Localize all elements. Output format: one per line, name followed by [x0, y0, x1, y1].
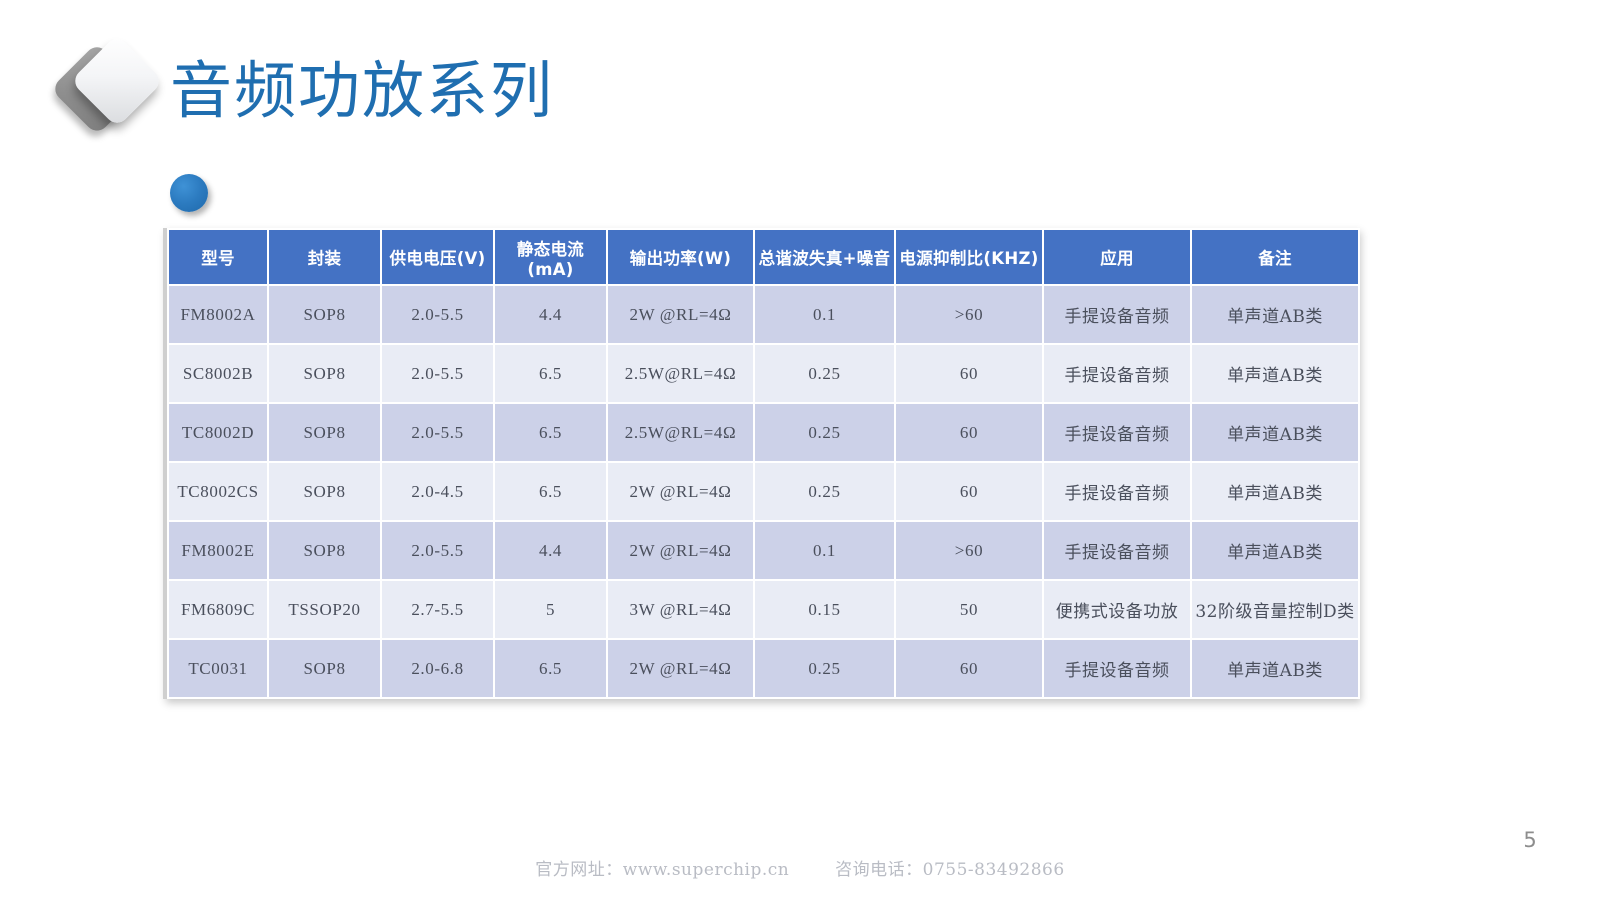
cell-model: TC0031 [168, 639, 268, 698]
cell-quiescent-current: 6.5 [494, 462, 607, 521]
table-row: TC8002D SOP8 2.0-5.5 6.5 2.5W@RL=4Ω 0.25… [168, 403, 1359, 462]
cell-model: SC8002B [168, 344, 268, 403]
footer-phone: 咨询电话：0755-83492866 [835, 855, 1065, 880]
cell-output-power: 2W @RL=4Ω [607, 285, 754, 344]
cell-remark: 单声道AB类 [1191, 285, 1359, 344]
cell-quiescent-current: 6.5 [494, 639, 607, 698]
cell-application: 手提设备音频 [1043, 639, 1191, 698]
column-header-supply-voltage: 供电电压(V) [381, 229, 494, 285]
cell-thd-n: 0.25 [754, 462, 895, 521]
cell-application: 手提设备音频 [1043, 403, 1191, 462]
column-header-package: 封装 [268, 229, 381, 285]
cell-output-power: 2W @RL=4Ω [607, 639, 754, 698]
cell-package: SOP8 [268, 521, 381, 580]
cell-supply-voltage: 2.7-5.5 [381, 580, 494, 639]
cell-supply-voltage: 2.0-4.5 [381, 462, 494, 521]
cell-package: TSSOP20 [268, 580, 381, 639]
cell-remark: 单声道AB类 [1191, 344, 1359, 403]
cell-model: FM6809C [168, 580, 268, 639]
column-header-quiescent-current: 静态电流(mA) [494, 229, 607, 285]
cell-output-power: 2.5W@RL=4Ω [607, 344, 754, 403]
cell-thd-n: 0.15 [754, 580, 895, 639]
cell-package: SOP8 [268, 285, 381, 344]
table-row: FM8002A SOP8 2.0-5.5 4.4 2W @RL=4Ω 0.1 >… [168, 285, 1359, 344]
cell-application: 便携式设备功放 [1043, 580, 1191, 639]
cell-psrr: >60 [895, 285, 1043, 344]
cell-package: SOP8 [268, 344, 381, 403]
cell-thd-n: 0.1 [754, 285, 895, 344]
cell-output-power: 2W @RL=4Ω [607, 521, 754, 580]
column-header-psrr: 电源抑制比(KHZ) [895, 229, 1043, 285]
cell-output-power: 3W @RL=4Ω [607, 580, 754, 639]
cell-thd-n: 0.1 [754, 521, 895, 580]
cell-quiescent-current: 6.5 [494, 344, 607, 403]
cell-model: TC8002D [168, 403, 268, 462]
column-header-application: 应用 [1043, 229, 1191, 285]
cell-model: FM8002A [168, 285, 268, 344]
column-header-model: 型号 [168, 229, 268, 285]
cell-supply-voltage: 2.0-5.5 [381, 285, 494, 344]
cell-quiescent-current: 4.4 [494, 285, 607, 344]
cell-supply-voltage: 2.0-5.5 [381, 403, 494, 462]
slide-canvas: 音频功放系列 型号 封装 供电电压(V) 静态电流(mA) 输出功率(W) 总谐… [0, 0, 1600, 900]
cell-model: FM8002E [168, 521, 268, 580]
cell-application: 手提设备音频 [1043, 462, 1191, 521]
cell-thd-n: 0.25 [754, 639, 895, 698]
page-number: 5 [1510, 828, 1550, 852]
cell-psrr: 50 [895, 580, 1043, 639]
cell-quiescent-current: 4.4 [494, 521, 607, 580]
cell-psrr: >60 [895, 521, 1043, 580]
cell-psrr: 60 [895, 344, 1043, 403]
cell-package: SOP8 [268, 462, 381, 521]
title-area: 音频功放系列 [58, 28, 1058, 148]
cell-package: SOP8 [268, 403, 381, 462]
column-header-output-power: 输出功率(W) [607, 229, 754, 285]
cell-application: 手提设备音频 [1043, 521, 1191, 580]
cell-supply-voltage: 2.0-6.8 [381, 639, 494, 698]
spec-table-container: 型号 封装 供电电压(V) 静态电流(mA) 输出功率(W) 总谐波失真+噪音 … [163, 228, 1358, 699]
table-header: 型号 封装 供电电压(V) 静态电流(mA) 输出功率(W) 总谐波失真+噪音 … [168, 229, 1359, 285]
column-header-thd-n: 总谐波失真+噪音 [754, 229, 895, 285]
table-header-row: 型号 封装 供电电压(V) 静态电流(mA) 输出功率(W) 总谐波失真+噪音 … [168, 229, 1359, 285]
diamond-logo-icon [58, 36, 168, 146]
cell-supply-voltage: 2.0-5.5 [381, 521, 494, 580]
footer-website: 官方网址：www.superchip.cn [535, 855, 789, 880]
cell-remark: 单声道AB类 [1191, 521, 1359, 580]
table-row: TC0031 SOP8 2.0-6.8 6.5 2W @RL=4Ω 0.25 6… [168, 639, 1359, 698]
page-title: 音频功放系列 [170, 46, 554, 136]
cell-output-power: 2.5W@RL=4Ω [607, 403, 754, 462]
cell-thd-n: 0.25 [754, 403, 895, 462]
table-row: FM6809C TSSOP20 2.7-5.5 5 3W @RL=4Ω 0.15… [168, 580, 1359, 639]
cell-output-power: 2W @RL=4Ω [607, 462, 754, 521]
cell-psrr: 60 [895, 462, 1043, 521]
cell-remark: 单声道AB类 [1191, 403, 1359, 462]
cell-remark: 单声道AB类 [1191, 639, 1359, 698]
table-row: SC8002B SOP8 2.0-5.5 6.5 2.5W@RL=4Ω 0.25… [168, 344, 1359, 403]
cell-thd-n: 0.25 [754, 344, 895, 403]
cell-application: 手提设备音频 [1043, 344, 1191, 403]
cell-supply-voltage: 2.0-5.5 [381, 344, 494, 403]
spec-table: 型号 封装 供电电压(V) 静态电流(mA) 输出功率(W) 总谐波失真+噪音 … [167, 228, 1360, 699]
section-bullet-dot-icon [170, 174, 208, 212]
table-row: FM8002E SOP8 2.0-5.5 4.4 2W @RL=4Ω 0.1 >… [168, 521, 1359, 580]
cell-package: SOP8 [268, 639, 381, 698]
table-body: FM8002A SOP8 2.0-5.5 4.4 2W @RL=4Ω 0.1 >… [168, 285, 1359, 698]
cell-quiescent-current: 6.5 [494, 403, 607, 462]
footer: 官方网址：www.superchip.cn 咨询电话：0755-83492866 [0, 855, 1600, 880]
cell-quiescent-current: 5 [494, 580, 607, 639]
cell-remark: 32阶级音量控制D类 [1191, 580, 1359, 639]
cell-remark: 单声道AB类 [1191, 462, 1359, 521]
table-row: TC8002CS SOP8 2.0-4.5 6.5 2W @RL=4Ω 0.25… [168, 462, 1359, 521]
cell-psrr: 60 [895, 639, 1043, 698]
cell-application: 手提设备音频 [1043, 285, 1191, 344]
cell-model: TC8002CS [168, 462, 268, 521]
column-header-remark: 备注 [1191, 229, 1359, 285]
cell-psrr: 60 [895, 403, 1043, 462]
